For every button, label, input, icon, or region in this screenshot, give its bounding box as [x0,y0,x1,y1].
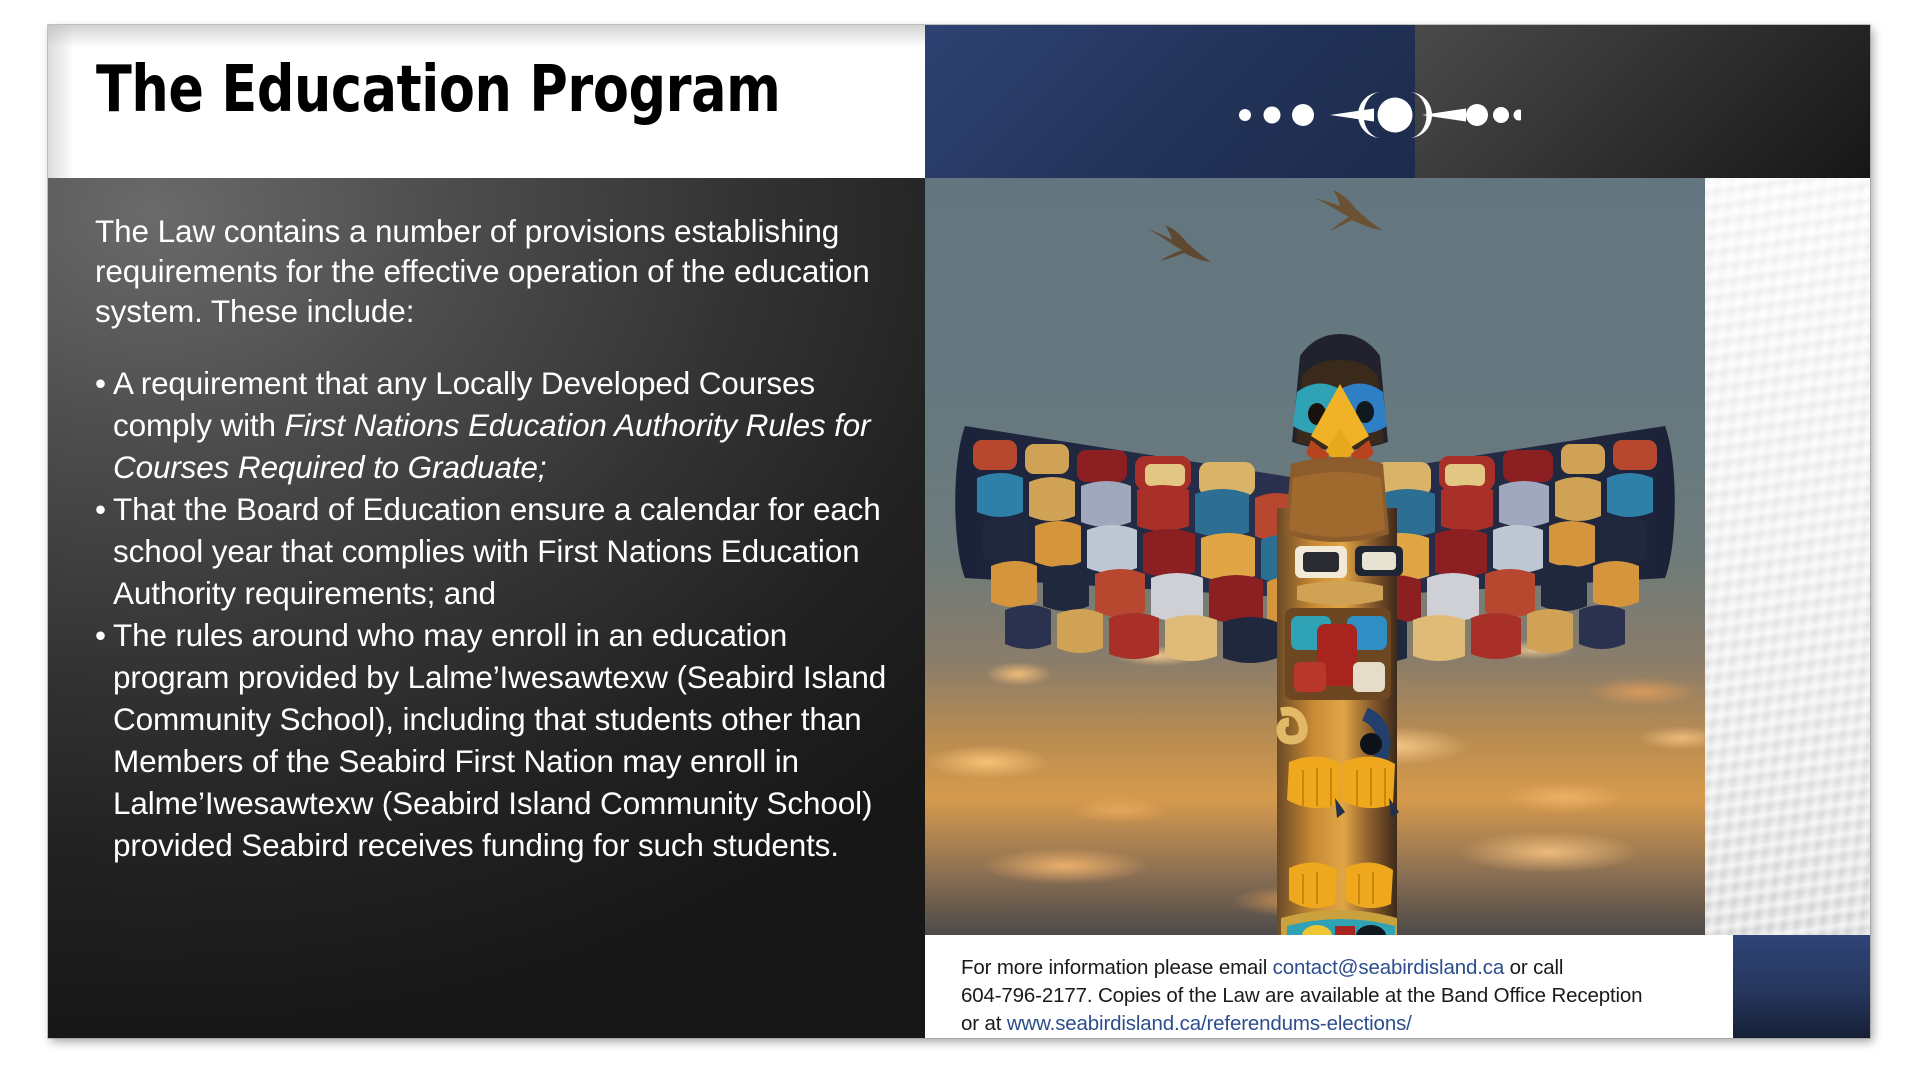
footer-line1-post: or call [1504,956,1563,979]
list-item: A requirement that any Locally Developed… [95,362,890,488]
provisions-list: A requirement that any Locally Developed… [95,362,890,866]
body-content: The Law contains a number of provisions … [95,211,890,866]
footer-contact-text: For more information please email contac… [961,954,1681,1038]
footer-navy-block [1733,935,1870,1038]
totem-pole-graphic [925,178,1705,935]
footer-panel: For more information please email contac… [925,935,1705,1038]
footer-line1-pre: For more information please email [961,956,1273,979]
bullet-text-pre: The rules around who may enroll in an ed… [113,617,886,863]
paper-texture-strip [1705,178,1870,935]
body-text-panel: The Law contains a number of provisions … [48,178,925,1038]
email-link[interactable]: contact@seabirdisland.ca [1273,956,1504,979]
footer-line3-pre: or at [961,1012,1007,1035]
list-item: The rules around who may enroll in an ed… [95,614,890,866]
list-item: That the Board of Education ensure a cal… [95,488,890,614]
slide-card: The Education Program [48,25,1870,1038]
sun-moon-ornament-icon [1231,87,1521,143]
website-link[interactable]: www.seabirdisland.ca/referendums-electio… [1007,1012,1412,1035]
thunderbird-totem-pole-photo [925,178,1705,935]
page-title: The Education Program [96,53,780,127]
intro-paragraph: The Law contains a number of provisions … [95,211,890,331]
title-panel: The Education Program [48,25,925,178]
slide-canvas: The Education Program [0,0,1920,1080]
footer-line2: 604-796-2177. Copies of the Law are avai… [961,984,1642,1007]
bullet-text-pre: That the Board of Education ensure a cal… [113,491,881,611]
